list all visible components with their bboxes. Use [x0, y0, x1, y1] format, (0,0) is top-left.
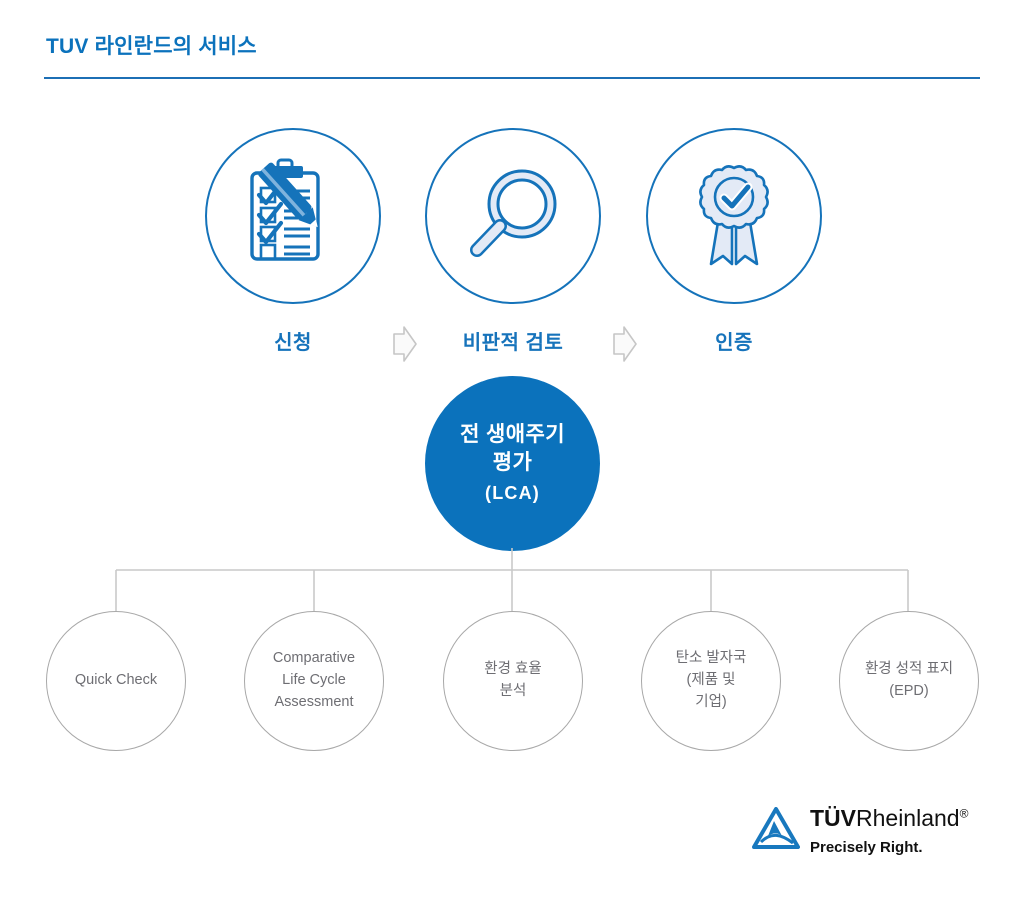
service-label-line: (제품 및: [676, 670, 747, 692]
header-divider: [44, 77, 980, 79]
logo-registered-mark: ®: [960, 806, 969, 820]
page-title: TUV 라인란드의 서비스: [46, 30, 257, 60]
magnifying-glass-icon: [457, 160, 569, 272]
service-circle-label: 환경 성적 표지 (EPD): [865, 659, 953, 703]
tuv-rheinland-triangle-icon: [752, 807, 800, 849]
service-label-line: Comparative: [273, 648, 355, 670]
process-step-circle: [646, 128, 822, 304]
process-step-certification[interactable]: 인증: [640, 128, 828, 355]
clipboard-checklist-pencil-icon: [234, 157, 352, 275]
service-label-line: 환경 효율: [484, 659, 541, 681]
logo-word-bold: TÜV: [810, 805, 856, 831]
service-circle-label: Comparative Life Cycle Assessment: [273, 648, 355, 713]
service-circle-label: 탄소 발자국 (제품 및 기업): [676, 648, 747, 713]
process-step-label: 신청: [199, 326, 387, 355]
service-label-line: 탄소 발자국: [676, 648, 747, 670]
arrow-right-icon: [392, 324, 418, 364]
service-label-line: Assessment: [273, 692, 355, 714]
service-label-line: 환경 성적 표지: [865, 659, 953, 681]
process-step-label: 비판적 검토: [419, 326, 607, 355]
arrow-right-icon: [612, 324, 638, 364]
service-circle-list: Quick Check Comparative Life Cycle Asses…: [0, 611, 1024, 761]
lca-hub-circle[interactable]: 전 생애주기 평가 (LCA): [425, 376, 600, 551]
service-circle-epd[interactable]: 환경 성적 표지 (EPD): [839, 611, 979, 751]
service-label-line: Life Cycle: [273, 670, 355, 692]
tuv-rheinland-logo: TÜVRheinland® Precisely Right.: [752, 805, 984, 867]
process-step-circle: [205, 128, 381, 304]
service-circle-quick-check[interactable]: Quick Check: [46, 611, 186, 751]
award-ribbon-check-icon: [678, 160, 790, 272]
service-circle-label: Quick Check: [75, 670, 157, 692]
service-label-line: 기업): [676, 692, 747, 714]
logo-word-regular: Rheinland: [856, 805, 960, 831]
service-label-line: (EPD): [865, 681, 953, 703]
slide-canvas: TUV 라인란드의 서비스: [0, 0, 1024, 900]
tree-connector: [0, 548, 1024, 618]
lca-hub-line-2: 평가: [493, 449, 532, 477]
service-circle-comparative-lca[interactable]: Comparative Life Cycle Assessment: [244, 611, 384, 751]
service-label-line: 분석: [484, 681, 541, 703]
logo-wordmark: TÜVRheinland®: [810, 805, 968, 832]
process-step-circle: [425, 128, 601, 304]
service-circle-eco-efficiency[interactable]: 환경 효율 분석: [443, 611, 583, 751]
service-circle-label: 환경 효율 분석: [484, 659, 541, 703]
logo-tagline: Precisely Right.: [810, 839, 923, 856]
process-step-critical-review[interactable]: 비판적 검토: [419, 128, 607, 355]
process-step-label: 인증: [640, 326, 828, 355]
process-step-application[interactable]: 신청: [199, 128, 387, 355]
lca-hub-line-1: 전 생애주기: [460, 421, 565, 449]
lca-hub-line-3: (LCA): [485, 482, 540, 506]
service-circle-carbon-footprint[interactable]: 탄소 발자국 (제품 및 기업): [641, 611, 781, 751]
process-flow: 신청 비판적 검토: [0, 128, 1024, 358]
service-label-line: Quick Check: [75, 670, 157, 692]
